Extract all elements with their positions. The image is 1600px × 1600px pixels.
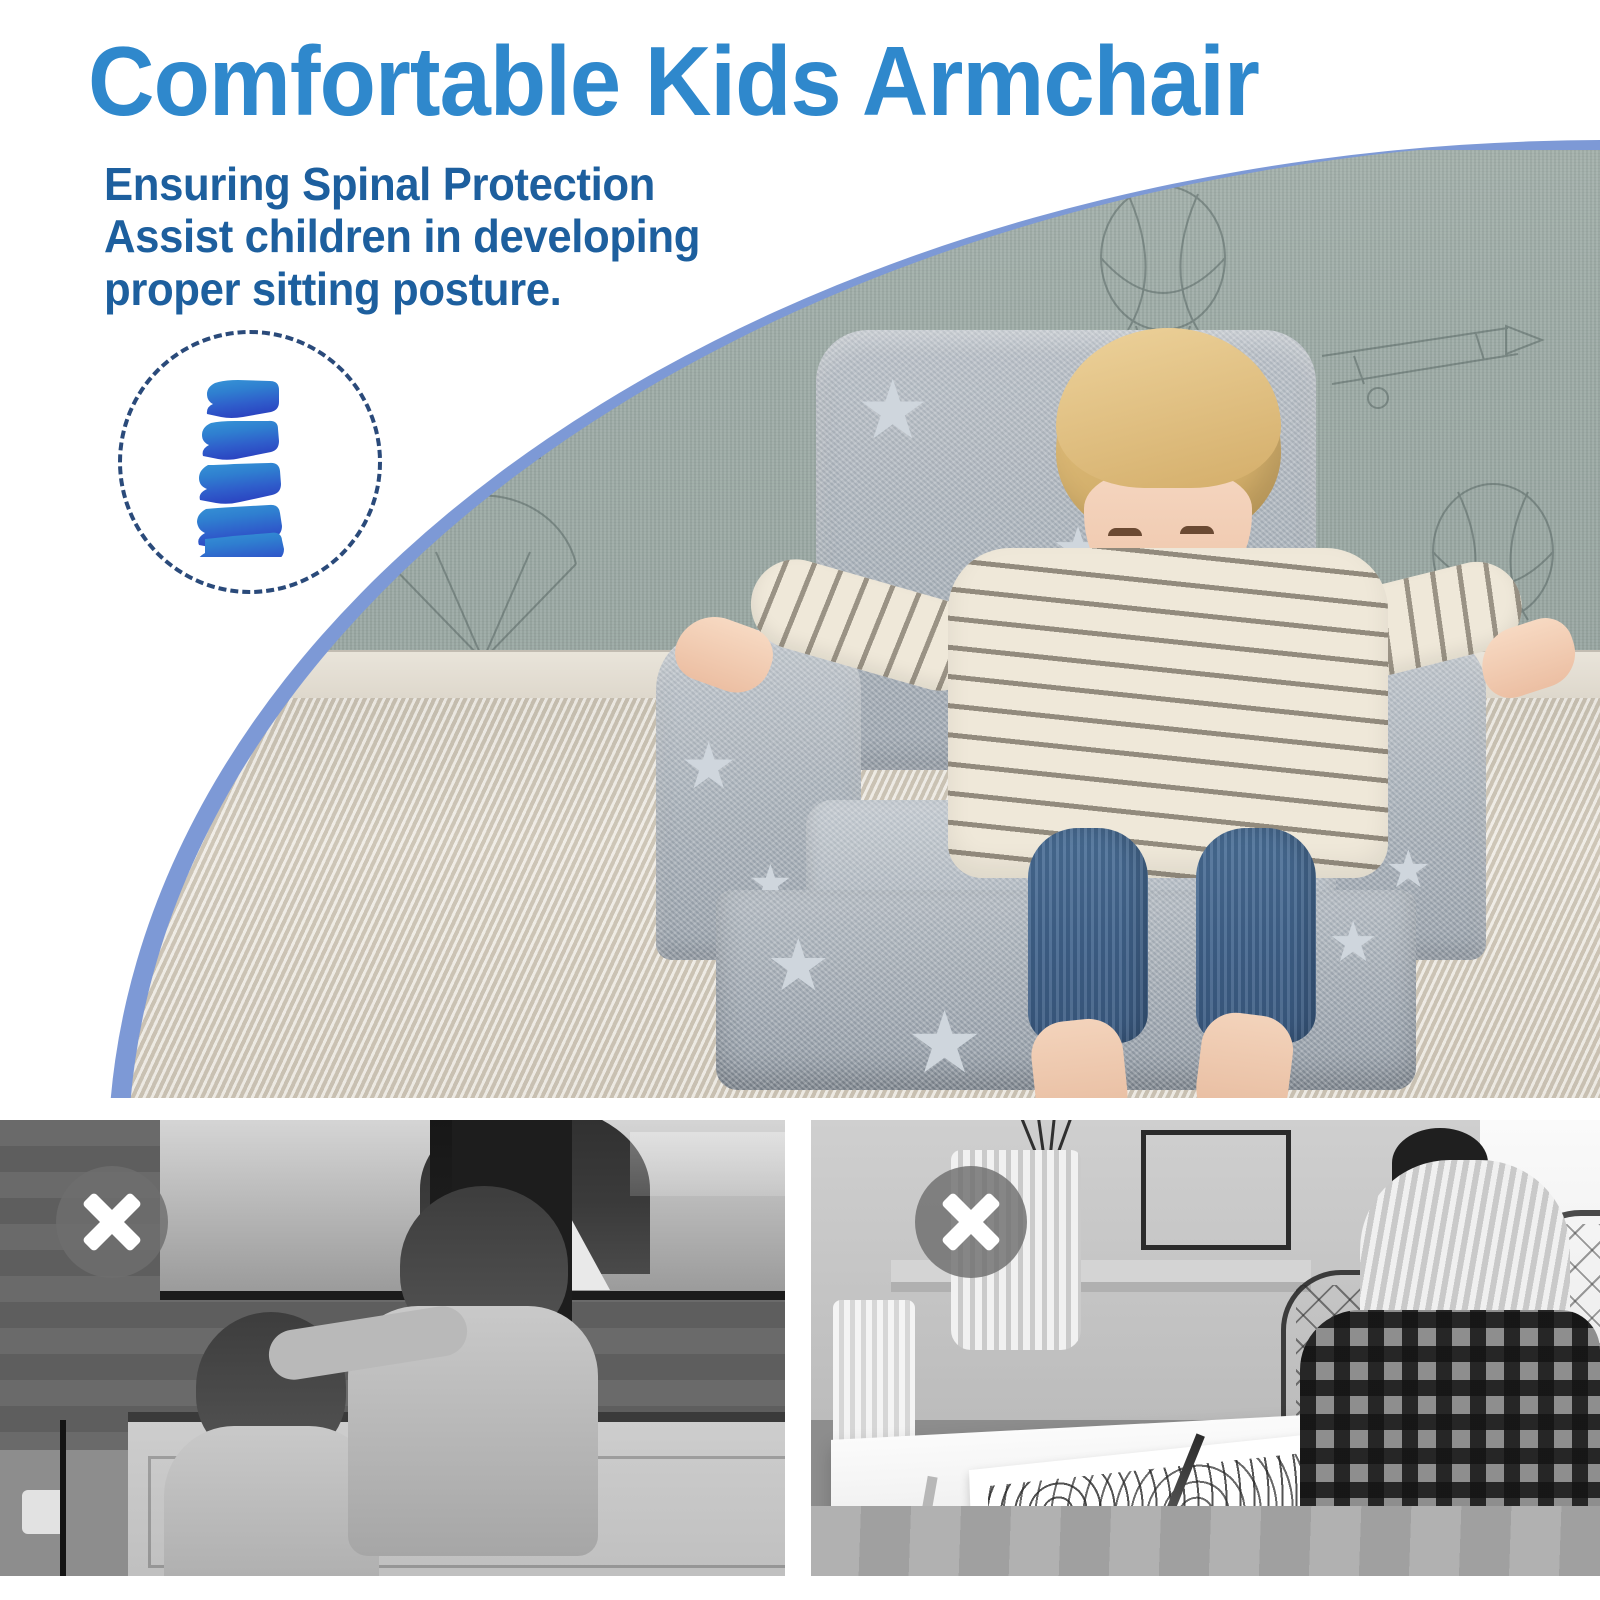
bad-example-watching-tv	[0, 1120, 785, 1576]
subtitle-line-3: proper sitting posture.	[104, 263, 712, 315]
spine-vertebrae-icon	[175, 367, 325, 557]
spine-badge	[118, 330, 382, 594]
product-infographic: ★ ★ ★ ★ ★ ★ ★	[0, 0, 1600, 1600]
child-hair-front	[1056, 328, 1281, 488]
star-applique: ★	[680, 734, 737, 798]
tv-news-ticker	[630, 1132, 785, 1196]
wood-floor	[811, 1506, 1600, 1576]
page-title: Comfortable Kids Armchair	[88, 34, 1498, 128]
child-eye	[1180, 526, 1214, 534]
x-icon	[915, 1166, 1027, 1278]
child-figure	[888, 328, 1448, 1088]
child-legs	[1028, 828, 1328, 1073]
subtitle-block: Ensuring Spinal Protection Assist childr…	[104, 158, 712, 315]
hero-section: ★ ★ ★ ★ ★ ★ ★	[0, 0, 1600, 1098]
subtitle-line-1: Ensuring Spinal Protection	[104, 158, 712, 210]
x-icon	[56, 1166, 168, 1278]
child-leg	[1028, 828, 1148, 1043]
subtitle-line-2: Assist children in developing	[104, 210, 712, 262]
child-leg	[1196, 828, 1316, 1043]
bad-example-drawing-at-table	[811, 1120, 1600, 1576]
child-eye	[1108, 528, 1142, 536]
bad-posture-examples	[0, 1120, 1600, 1576]
child-sitting-on-floor	[330, 1186, 610, 1576]
star-applique: ★	[766, 930, 831, 1002]
